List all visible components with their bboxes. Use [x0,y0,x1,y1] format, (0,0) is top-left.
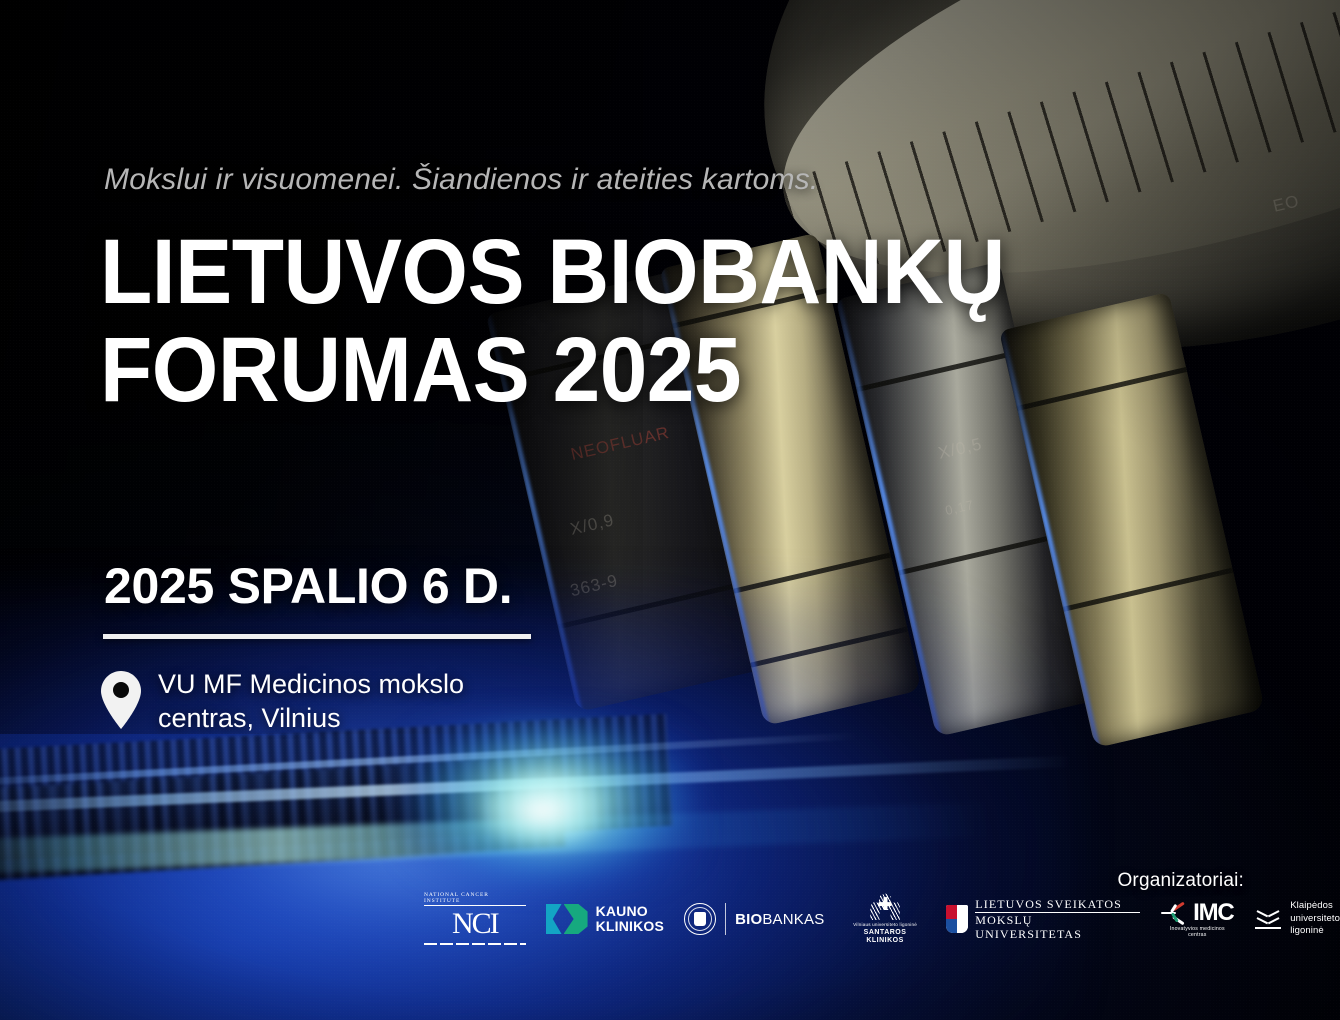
logo-imc: IMC Inovatyvios medicinos centras [1160,893,1234,945]
nci-bar [424,943,526,945]
nci-top-text: NATIONAL CANCER INSTITUTE [424,893,526,906]
santaros-cross-icon [879,897,892,910]
lsmu-shield-icon [946,905,969,933]
kauno-klinikos-text: KAUNO KLINIKOS [596,904,665,934]
nci-monogram: NCI [452,909,498,939]
biobankas-bold: BIO [735,911,762,928]
logo-nci: NATIONAL CANCER INSTITUTE NCI [424,893,526,945]
map-pin-icon [100,670,142,735]
klaipeda-line-1: Klaipėdos [1290,900,1340,913]
venue-line-2: centras, Vilnius [158,702,464,736]
lsmu-line-1: LIETUVOS SVEIKATOS [975,897,1140,913]
venue-address: VU MF Medicinos mokslo centras, Vilnius [158,668,464,736]
divider-rule [103,634,531,639]
organizer-logo-strip: NATIONAL CANCER INSTITUTE NCI KAUNO KLIN… [424,893,1340,945]
santaros-line-1: Vilniaus universiteto ligoninė [853,922,917,927]
logo-vu-biobankas: BIOBANKAS [684,893,824,945]
klaipeda-line-3: ligoninė [1290,925,1340,938]
page-title: LIETUVOS BIOBANKŲ FORUMAS 2025 [100,224,1049,419]
organizers-label: Organizatoriai: [1117,870,1244,892]
biobankas-light: BANKAS [762,911,824,928]
klaipeda-text: Klaipėdos universiteto ligoninė [1290,900,1340,938]
logo-santaros-klinikos: Vilniaus universiteto ligoninė SANTAROS … [844,893,925,945]
biobankas-text: BIOBANKAS [735,911,824,928]
imc-subtitle: Inovatyvios medicinos centras [1160,926,1234,938]
imc-abbr: IMC [1193,901,1233,925]
vu-seal-icon [684,903,716,935]
kauno-line-1: KAUNO [596,904,665,919]
venue-block: VU MF Medicinos mokslo centras, Vilnius [100,668,560,736]
event-poster: 2 NEOFLUAR X/0,9 363-9 X/0,5 0,17 EO [0,0,1340,1020]
kauno-line-2: KLINIKOS [596,919,665,934]
venue-line-1: VU MF Medicinos mokslo [158,668,464,702]
logo-klaipedos-universiteto-ligonine: Klaipėdos universiteto ligoninė [1254,893,1340,945]
title-line-1: LIETUVOS BIOBANKŲ [100,224,1049,322]
lsmu-line-2: MOKSLŲ UNIVERSITETAS [975,913,1140,941]
imc-row: IMC [1161,901,1233,925]
logo-divider [725,903,726,935]
klaipeda-line-2: universiteto [1290,913,1340,926]
kauno-klinikos-mark-icon [546,904,588,934]
santaros-line-2: SANTAROS KLINIKOS [844,929,925,944]
logo-lsmu: LIETUVOS SVEIKATOS MOKSLŲ UNIVERSITETAS [946,893,1141,945]
poster-content: Mokslui ir visuomenei. Šiandienos ir ate… [0,0,1340,1020]
event-date: 2025 SPALIO 6 D. [104,557,512,615]
lsmu-text: LIETUVOS SVEIKATOS MOKSLŲ UNIVERSITETAS [975,897,1140,941]
tagline: Mokslui ir visuomenei. Šiandienos ir ate… [104,163,818,197]
klaipeda-chevron-icon [1254,906,1282,932]
santaros-arch-icon [862,893,908,920]
title-line-2: FORUMAS 2025 [100,322,1049,420]
imc-branch-icon [1161,901,1187,925]
logo-kauno-klinikos: KAUNO KLINIKOS [546,893,665,945]
